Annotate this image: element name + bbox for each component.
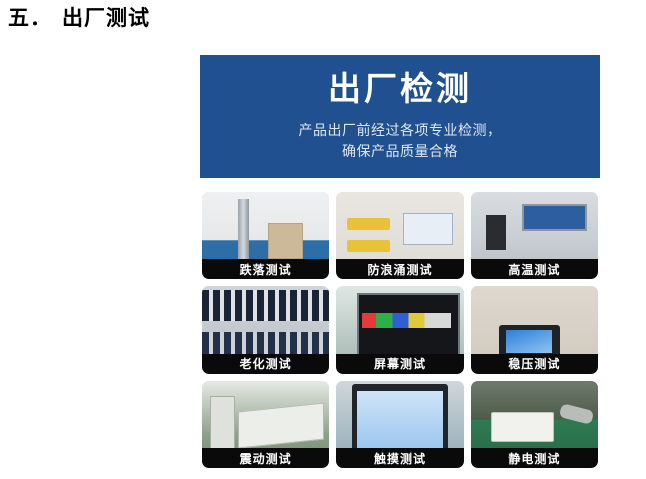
test-cell[interactable]: 震动测试 bbox=[202, 381, 329, 468]
test-cell[interactable]: 稳压测试 bbox=[471, 286, 598, 373]
test-cell[interactable]: 防浪涌测试 bbox=[336, 192, 463, 279]
test-cell[interactable]: 跌落测试 bbox=[202, 192, 329, 279]
test-cell-label: 触摸测试 bbox=[336, 448, 463, 468]
page-title: 五．出厂测试 bbox=[8, 2, 150, 32]
test-cell-label: 跌落测试 bbox=[202, 259, 329, 279]
test-cell[interactable]: 触摸测试 bbox=[336, 381, 463, 468]
test-cell-label: 防浪涌测试 bbox=[336, 259, 463, 279]
test-cell[interactable]: 屏幕测试 bbox=[336, 286, 463, 373]
test-cell-label: 屏幕测试 bbox=[336, 354, 463, 374]
test-cell-label: 高温测试 bbox=[471, 259, 598, 279]
test-cell[interactable]: 静电测试 bbox=[471, 381, 598, 468]
banner-subtitle-line-1: 产品出厂前经过各项专业检测， bbox=[299, 120, 502, 141]
factory-inspection-banner: 出厂检测 产品出厂前经过各项专业检测， 确保产品质量合格 bbox=[200, 55, 600, 178]
test-photo-grid: 跌落测试防浪涌测试高温测试老化测试屏幕测试稳压测试震动测试触摸测试静电测试 bbox=[202, 192, 598, 468]
page-title-number: 五． bbox=[8, 7, 52, 30]
banner-subtitle-line-2: 确保产品质量合格 bbox=[299, 141, 502, 162]
test-cell[interactable]: 高温测试 bbox=[471, 192, 598, 279]
banner-title: 出厂检测 bbox=[328, 71, 472, 107]
test-cell[interactable]: 老化测试 bbox=[202, 286, 329, 373]
test-cell-label: 稳压测试 bbox=[471, 354, 598, 374]
page-title-text: 出厂测试 bbox=[62, 7, 150, 30]
test-cell-label: 老化测试 bbox=[202, 354, 329, 374]
banner-subtitle: 产品出厂前经过各项专业检测， 确保产品质量合格 bbox=[299, 120, 502, 162]
test-cell-label: 静电测试 bbox=[471, 448, 598, 468]
test-cell-label: 震动测试 bbox=[202, 448, 329, 468]
